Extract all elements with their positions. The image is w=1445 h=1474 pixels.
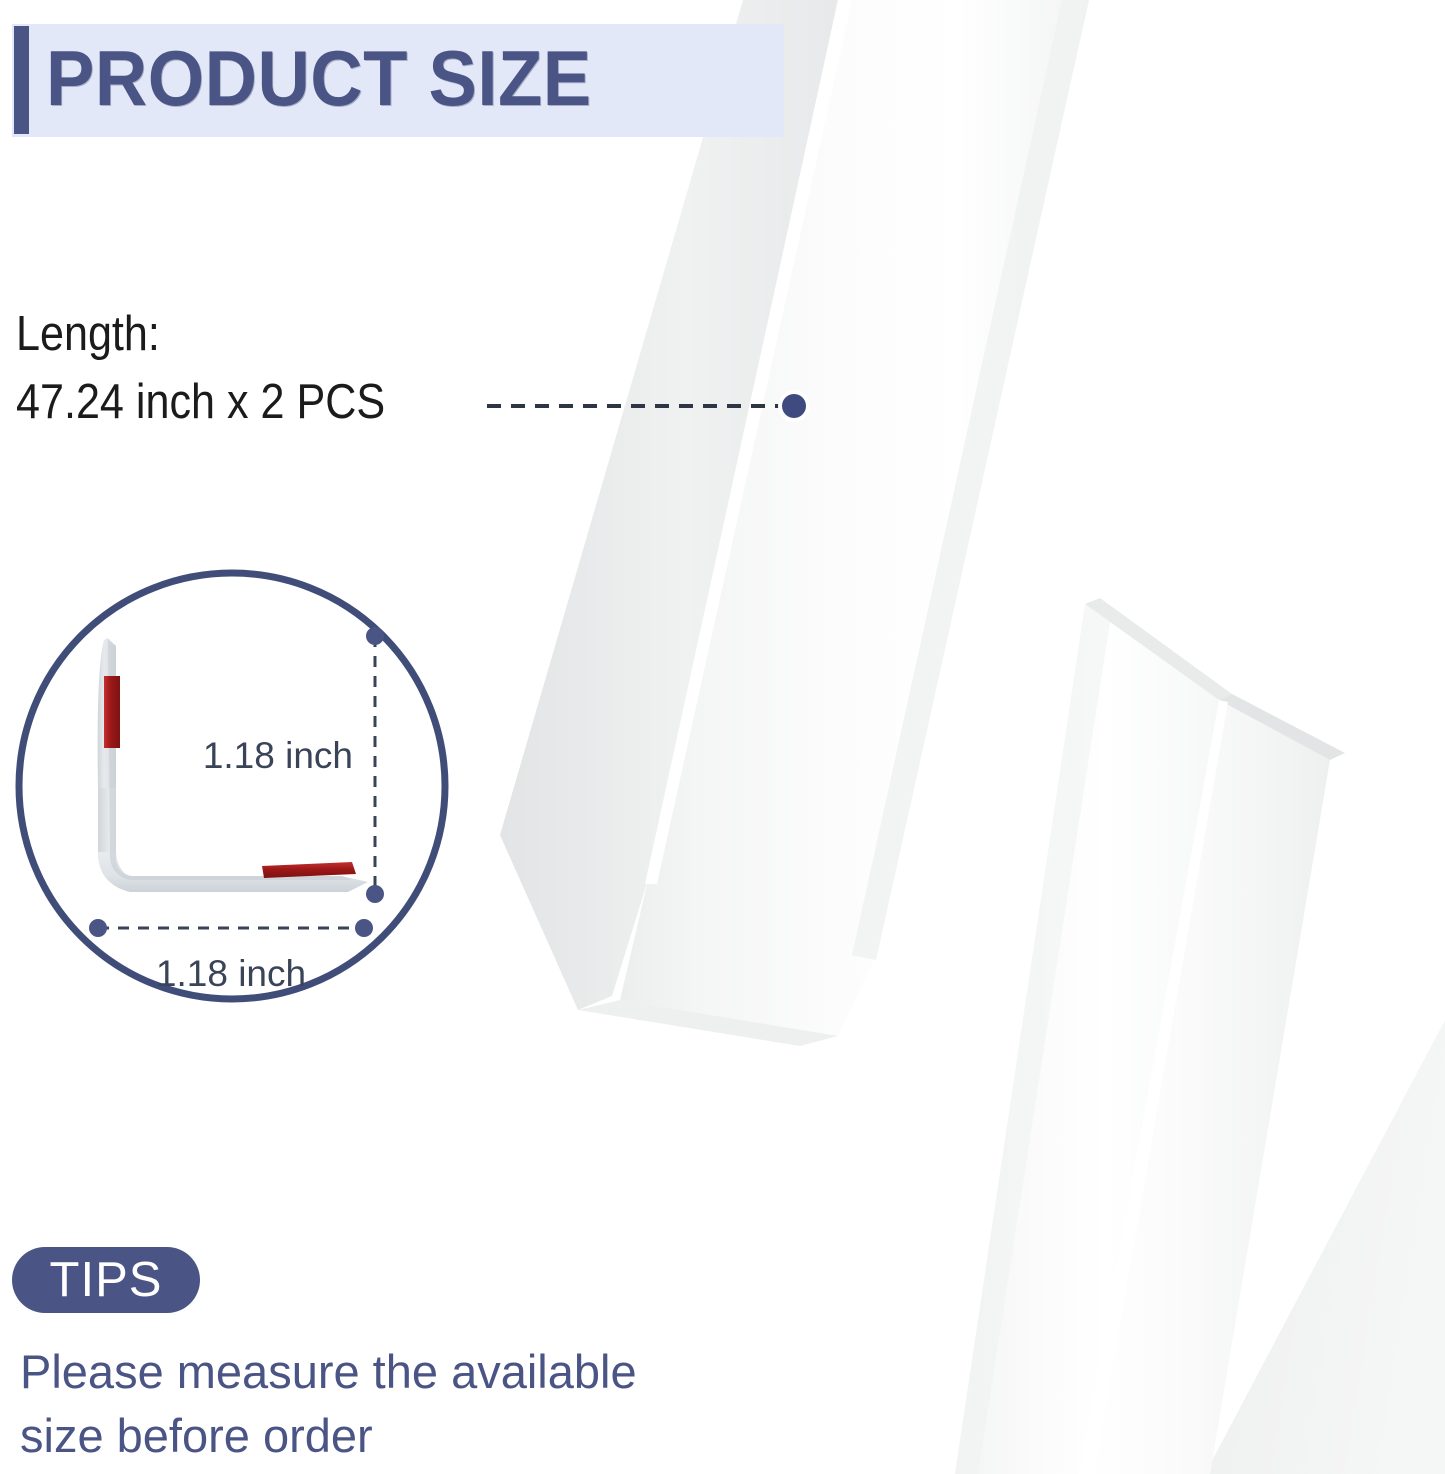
header-accent-bar	[14, 26, 29, 134]
dimension-label-width: 1.18 inch	[156, 953, 306, 994]
length-value: 47.24 inch x 2 PCS	[16, 368, 385, 436]
tips-badge-label: TIPS	[50, 1254, 163, 1306]
dimension-line-vertical	[366, 627, 384, 903]
product-size-infographic: PRODUCT SIZE Length: 47.24 inch x 2 PCS	[0, 0, 1445, 1474]
tips-badge: TIPS	[12, 1247, 200, 1313]
length-label: Length:	[16, 300, 385, 368]
tips-text: Please measure the available size before…	[20, 1340, 820, 1468]
dimension-line-horizontal	[89, 919, 373, 937]
length-callout: Length: 47.24 inch x 2 PCS	[16, 300, 435, 436]
page-title: PRODUCT SIZE	[46, 28, 592, 128]
tips-line-1: Please measure the available	[20, 1340, 820, 1404]
length-leader-line	[487, 404, 779, 408]
tips-line-2: size before order	[20, 1404, 820, 1468]
adhesive-strip-vertical	[104, 676, 120, 748]
corner-guard-strip-left	[500, 0, 1089, 1046]
dimension-label-height: 1.18 inch	[203, 735, 353, 776]
length-leader-dot-icon	[782, 394, 806, 418]
detail-inset-circle: 1.18 inch 1.18 inch	[12, 560, 452, 1012]
corner-guard-strip-right	[955, 598, 1345, 1474]
